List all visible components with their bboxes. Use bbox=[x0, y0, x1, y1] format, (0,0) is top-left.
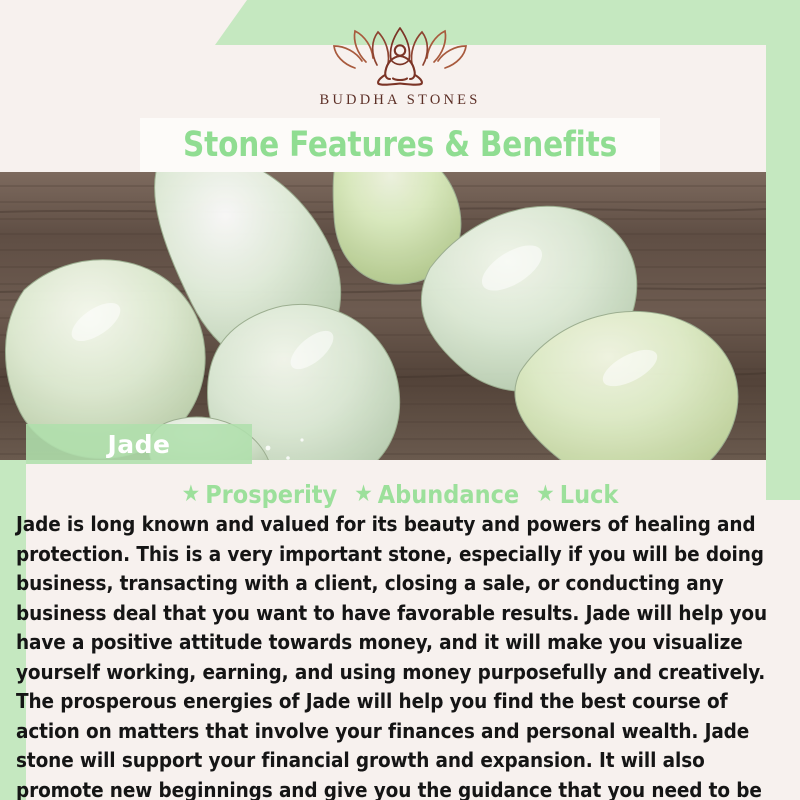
page-title: Stone Features & Benefits bbox=[24, 120, 776, 170]
benefit-label: Luck bbox=[560, 480, 619, 509]
brand-name: BUDDHA STONES bbox=[320, 92, 481, 109]
infographic-card: BUDDHA STONES Stone Features & Benefits bbox=[0, 0, 800, 800]
star-icon: ★ bbox=[354, 483, 373, 506]
stone-label: Jade bbox=[26, 424, 252, 464]
brand-logo: BUDDHA STONES bbox=[0, 22, 800, 117]
benefits-row: ★ Prosperity ★ Abundance ★ Luck bbox=[0, 478, 800, 510]
benefit-item: ★ Abundance bbox=[354, 480, 519, 509]
lotus-meditation-icon bbox=[325, 22, 475, 88]
jade-stones-image bbox=[0, 172, 766, 460]
star-icon: ★ bbox=[182, 483, 201, 506]
benefit-item: ★ Prosperity bbox=[182, 480, 338, 509]
benefit-label: Abundance bbox=[378, 480, 519, 509]
stone-description: Jade is long known and valued for its be… bbox=[16, 510, 786, 800]
benefit-label: Prosperity bbox=[205, 480, 337, 509]
star-icon: ★ bbox=[536, 483, 555, 506]
stone-photo bbox=[0, 172, 766, 460]
benefit-item: ★ Luck bbox=[536, 480, 618, 509]
